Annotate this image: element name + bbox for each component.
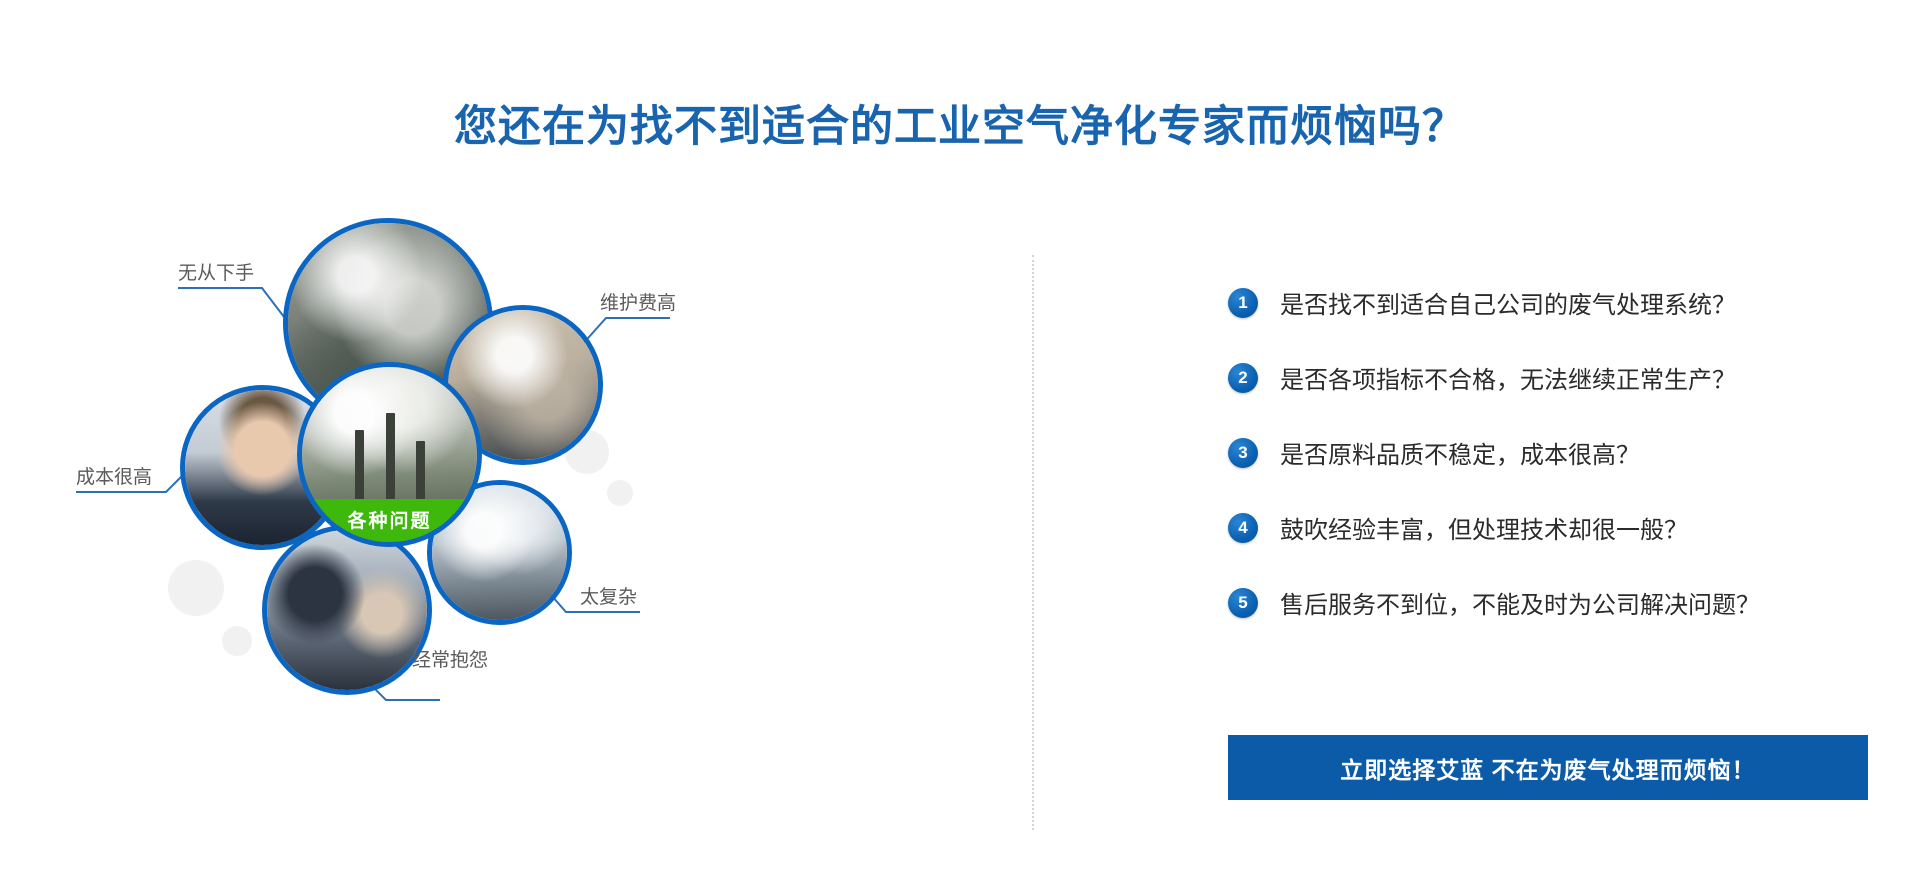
- cta-button[interactable]: 立即选择艾蓝 不在为废气处理而烦恼！: [1228, 735, 1868, 800]
- list-number-badge: 3: [1228, 438, 1258, 468]
- callout-label-top-right: 维护费高: [600, 288, 676, 315]
- callout-label-left: 成本很高: [76, 462, 152, 489]
- center-smokestacks-photo: 各种问题: [297, 362, 482, 547]
- decorative-circle: [222, 626, 252, 656]
- page-title: 您还在为找不到适合的工业空气净化专家而烦恼吗？: [0, 92, 1920, 154]
- decorative-circle: [607, 480, 633, 506]
- list-number-badge: 2: [1228, 363, 1258, 393]
- list-item: 2 是否各项指标不合格，无法继续正常生产？: [1228, 340, 1868, 415]
- decorative-circle: [168, 560, 224, 616]
- center-badge-label: 各种问题: [302, 499, 477, 542]
- list-number-badge: 4: [1228, 513, 1258, 543]
- list-item: 1 是否找不到适合自己公司的废气处理系统？: [1228, 265, 1868, 340]
- vertical-divider: [1032, 255, 1034, 830]
- list-item: 4 鼓吹经验丰富，但处理技术却很一般？: [1228, 490, 1868, 565]
- callout-label-bottom-left: 经常抱怨: [412, 645, 488, 672]
- list-item-text: 是否原料品质不稳定，成本很高？: [1280, 435, 1640, 470]
- list-number-badge: 5: [1228, 588, 1258, 618]
- list-item-text: 售后服务不到位，不能及时为公司解决问题？: [1280, 585, 1760, 620]
- promo-banner: 您还在为找不到适合的工业空气净化专家而烦恼吗？: [0, 0, 1920, 875]
- office-argument-photo: [262, 525, 432, 695]
- list-item: 3 是否原料品质不稳定，成本很高？: [1228, 415, 1868, 490]
- list-number-badge: 1: [1228, 288, 1258, 318]
- callout-label-bottom-right: 太复杂: [580, 582, 637, 609]
- list-item-text: 是否找不到适合自己公司的废气处理系统？: [1280, 285, 1736, 320]
- problem-illustration: 各种问题 无从下手 维护费高 成本很高 太复杂 经常抱怨: [0, 230, 1020, 875]
- list-item: 5 售后服务不到位，不能及时为公司解决问题？: [1228, 565, 1868, 640]
- list-item-text: 鼓吹经验丰富，但处理技术却很一般？: [1280, 510, 1688, 545]
- list-item-text: 是否各项指标不合格，无法继续正常生产？: [1280, 360, 1736, 395]
- callout-label-top-left: 无从下手: [178, 258, 254, 285]
- problem-list: 1 是否找不到适合自己公司的废气处理系统？ 2 是否各项指标不合格，无法继续正常…: [1228, 265, 1868, 640]
